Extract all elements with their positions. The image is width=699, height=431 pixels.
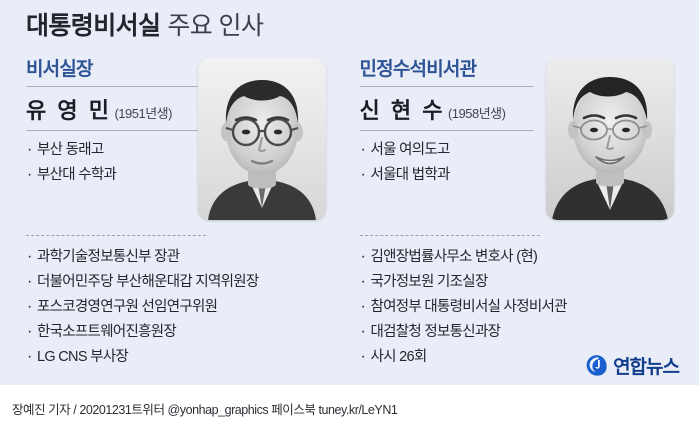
list-item: 부산대 수학과: [26, 163, 336, 188]
list-item: 한국소프트웨어진흥원장: [26, 320, 259, 345]
dashed-separator-left: [26, 235, 206, 236]
education-list-left: 부산 동래고 부산대 수학과: [26, 138, 336, 188]
infographic-root: 대통령비서실 주요 인사: [0, 0, 699, 431]
list-item: 김앤장법률사무소 변호사 (현): [360, 245, 567, 270]
title-strong: 대통령비서실: [26, 6, 160, 42]
title-light: 주요 인사: [167, 6, 263, 42]
person-card-left: 비서실장 유 영 민 (1951년생) 부산 동래고 부산대 수학과 과학기술정…: [0, 48, 350, 385]
person-columns: 비서실장 유 영 민 (1951년생) 부산 동래고 부산대 수학과 과학기술정…: [0, 48, 699, 385]
person-name-left: 유 영 민: [26, 93, 111, 125]
divider-bottom-right: [360, 130, 534, 131]
person-birth-left: (1951년생): [114, 103, 172, 122]
list-item: 부산 동래고: [26, 138, 336, 163]
list-item: 사시 26회: [360, 345, 567, 370]
list-item: 국가정보원 기조실장: [360, 270, 567, 295]
footer-bar: 장예진 기자 / 20201231트위터 @yonhap_graphics 페이…: [0, 385, 699, 431]
dashed-separator-right: [360, 235, 540, 236]
career-list-left: 과학기술정보통신부 장관 더불어민주당 부산해운대갑 지역위원장 포스코경영연구…: [26, 245, 259, 370]
list-item: 참여정부 대통령비서실 사정비서관: [360, 295, 567, 320]
yonhap-swirl-icon: [585, 354, 608, 377]
education-list-right: 서울 여의도고 서울대 법학과: [360, 138, 686, 188]
person-name-right: 신 현 수: [360, 93, 445, 125]
list-item: 서울 여의도고: [360, 138, 686, 163]
yonhap-news-logo: 연합뉴스: [585, 352, 679, 379]
person-card-right: 민정수석비서관 신 현 수 (1958년생) 서울 여의도고 서울대 법학과 김…: [350, 48, 699, 385]
page-title: 대통령비서실 주요 인사: [0, 0, 699, 48]
person-birth-right: (1958년생): [448, 103, 506, 122]
list-item: 대검찰청 정보통신과장: [360, 320, 567, 345]
logo-text: 연합뉴스: [613, 352, 679, 379]
career-list-right: 김앤장법률사무소 변호사 (현) 국가정보원 기조실장 참여정부 대통령비서실 …: [360, 245, 567, 370]
list-item: 과학기술정보통신부 장관: [26, 245, 259, 270]
list-item: 더불어민주당 부산해운대갑 지역위원장: [26, 270, 259, 295]
list-item: 서울대 법학과: [360, 163, 686, 188]
footer-credit: 장예진 기자 / 20201231트위터 @yonhap_graphics 페이…: [12, 399, 397, 418]
divider-bottom-left: [26, 130, 200, 131]
list-item: LG CNS 부사장: [26, 345, 259, 370]
list-item: 포스코경영연구원 선임연구위원: [26, 295, 259, 320]
